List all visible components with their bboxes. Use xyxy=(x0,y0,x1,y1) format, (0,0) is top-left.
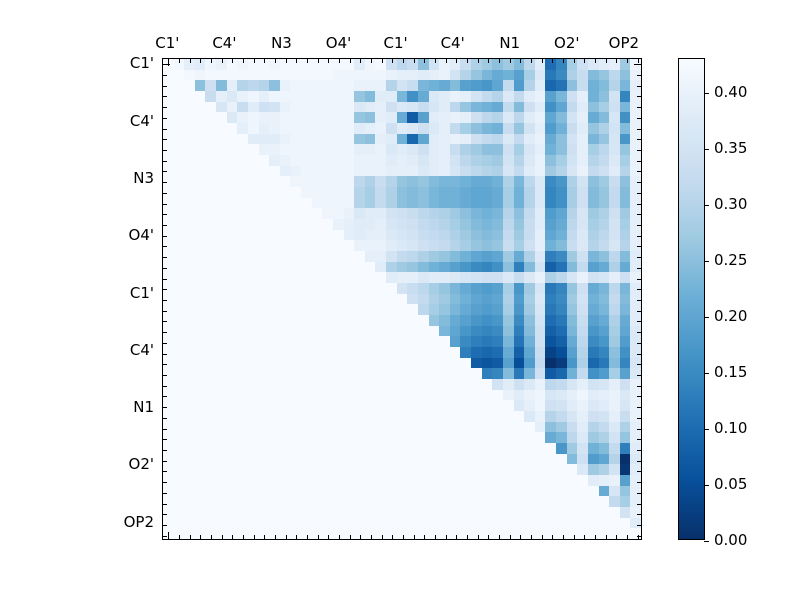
heatmap-cell xyxy=(301,518,312,529)
heatmap-cell xyxy=(599,432,610,443)
heatmap-cell xyxy=(588,294,599,305)
heatmap-cell xyxy=(386,272,397,283)
heatmap-cell xyxy=(333,166,344,177)
heatmap-cell xyxy=(227,208,238,219)
heatmap-cell xyxy=(407,240,418,251)
axis-minor-tick xyxy=(222,59,223,63)
heatmap-cell xyxy=(312,454,323,465)
heatmap-cell xyxy=(301,80,312,91)
heatmap-cell xyxy=(354,166,365,177)
axis-minor-tick xyxy=(179,535,180,539)
axis-minor-tick xyxy=(350,59,351,63)
heatmap-cell xyxy=(301,390,312,401)
heatmap-cell xyxy=(322,336,333,347)
heatmap-cell xyxy=(418,70,429,81)
heatmap-cell xyxy=(556,272,567,283)
heatmap-cell xyxy=(439,70,450,81)
axis-minor-tick xyxy=(467,59,468,63)
heatmap-cell xyxy=(269,134,280,145)
heatmap-cell xyxy=(216,432,227,443)
heatmap-cell xyxy=(545,208,556,219)
heatmap-cell xyxy=(503,240,514,251)
heatmap-cell xyxy=(322,272,333,283)
heatmap-cell xyxy=(301,358,312,369)
heatmap-cell xyxy=(503,390,514,401)
heatmap-cell xyxy=(269,166,280,177)
heatmap-cell xyxy=(195,155,206,166)
heatmap-cell xyxy=(248,166,259,177)
colorbar-tick-label: 0.40 xyxy=(714,83,747,101)
heatmap-cell xyxy=(248,400,259,411)
heatmap-cell xyxy=(503,304,514,315)
heatmap-cell xyxy=(205,326,216,337)
axis-minor-tick xyxy=(637,504,641,505)
heatmap-cell xyxy=(184,240,195,251)
heatmap-cell xyxy=(397,134,408,145)
heatmap-cell xyxy=(248,379,259,390)
heatmap-cell xyxy=(407,123,418,134)
heatmap-cell xyxy=(630,368,641,379)
heatmap-cell xyxy=(556,464,567,475)
heatmap-cell xyxy=(609,358,620,369)
heatmap-cell xyxy=(397,464,408,475)
heatmap-cell xyxy=(280,198,291,209)
axis-minor-tick xyxy=(446,535,447,539)
axis-minor-tick xyxy=(584,535,585,539)
heatmap-cell xyxy=(375,240,386,251)
colorbar-tick xyxy=(704,205,709,206)
heatmap-cell xyxy=(174,496,185,507)
heatmap-cell xyxy=(599,411,610,422)
heatmap-cell xyxy=(609,486,620,497)
axis-minor-tick xyxy=(163,246,167,247)
heatmap-cell xyxy=(301,464,312,475)
heatmap-cell xyxy=(237,166,248,177)
heatmap-cell xyxy=(588,134,599,145)
heatmap-cell xyxy=(620,80,631,91)
heatmap-cell xyxy=(216,294,227,305)
heatmap-cell xyxy=(344,102,355,113)
heatmap-cell xyxy=(386,123,397,134)
heatmap-cell xyxy=(365,326,376,337)
heatmap-cell xyxy=(365,102,376,113)
heatmap-cell xyxy=(460,80,471,91)
heatmap-cell xyxy=(397,454,408,465)
heatmap-cell xyxy=(216,144,227,155)
heatmap-cell xyxy=(439,262,450,273)
heatmap-cell xyxy=(237,219,248,230)
heatmap-cell xyxy=(290,432,301,443)
axis-minor-tick xyxy=(563,59,564,63)
heatmap-cell xyxy=(482,400,493,411)
heatmap-cell xyxy=(535,400,546,411)
heatmap-cell xyxy=(450,272,461,283)
heatmap-cell xyxy=(471,283,482,294)
heatmap-cell xyxy=(375,294,386,305)
heatmap-cell xyxy=(524,80,535,91)
heatmap-cell xyxy=(290,155,301,166)
heatmap-cell xyxy=(322,230,333,241)
heatmap-cell xyxy=(354,80,365,91)
heatmap-cell xyxy=(620,315,631,326)
heatmap-cell xyxy=(418,198,429,209)
axis-minor-tick xyxy=(552,59,553,63)
axis-minor-tick xyxy=(163,493,167,494)
heatmap-cell xyxy=(418,304,429,315)
heatmap-cell xyxy=(524,315,535,326)
heatmap-cell xyxy=(248,347,259,358)
heatmap-cell xyxy=(482,70,493,81)
heatmap-cell xyxy=(471,80,482,91)
axis-minor-tick xyxy=(638,59,639,63)
heatmap-cell xyxy=(482,326,493,337)
heatmap-cell xyxy=(567,283,578,294)
heatmap-cell xyxy=(450,486,461,497)
axis-minor-tick xyxy=(163,418,167,419)
heatmap-cell xyxy=(514,347,525,358)
heatmap-cell xyxy=(280,315,291,326)
heatmap-cell xyxy=(609,102,620,113)
heatmap-cell xyxy=(237,422,248,433)
heatmap-cell xyxy=(174,283,185,294)
heatmap-cell xyxy=(429,176,440,187)
heatmap-cell xyxy=(301,176,312,187)
heatmap-cell xyxy=(269,390,280,401)
heatmap-cell xyxy=(280,80,291,91)
heatmap-cell xyxy=(184,262,195,273)
heatmap-cell xyxy=(333,294,344,305)
heatmap-cell xyxy=(280,368,291,379)
heatmap-cell xyxy=(259,358,270,369)
heatmap-cell xyxy=(545,411,556,422)
heatmap-cell xyxy=(418,390,429,401)
heatmap-cell xyxy=(280,400,291,411)
heatmap-cell xyxy=(184,80,195,91)
heatmap-cell xyxy=(620,91,631,102)
heatmap-cell xyxy=(344,166,355,177)
axis-minor-tick xyxy=(286,535,287,539)
heatmap-cell xyxy=(259,198,270,209)
heatmap-cell xyxy=(535,251,546,262)
heatmap-cell xyxy=(588,400,599,411)
axis-minor-tick xyxy=(637,493,641,494)
heatmap-cell xyxy=(354,379,365,390)
heatmap-cell xyxy=(195,208,206,219)
heatmap-cell xyxy=(503,422,514,433)
heatmap-cell xyxy=(620,528,631,539)
heatmap-cell xyxy=(418,379,429,390)
heatmap-cell xyxy=(429,155,440,166)
heatmap-cell xyxy=(503,112,514,123)
heatmap-cell xyxy=(301,432,312,443)
heatmap-cell xyxy=(407,91,418,102)
heatmap-cell xyxy=(567,102,578,113)
heatmap-cell xyxy=(524,507,535,518)
heatmap-cell xyxy=(567,70,578,81)
axis-minor-tick xyxy=(243,59,244,63)
axis-minor-tick xyxy=(637,343,641,344)
heatmap-cell xyxy=(439,251,450,262)
heatmap-cell xyxy=(407,294,418,305)
heatmap-cell xyxy=(599,144,610,155)
heatmap-cell xyxy=(259,347,270,358)
heatmap-cell xyxy=(567,176,578,187)
heatmap-cell xyxy=(535,454,546,465)
heatmap-cell xyxy=(344,240,355,251)
heatmap-cell xyxy=(460,283,471,294)
heatmap-cell xyxy=(227,358,238,369)
heatmap-cell xyxy=(333,187,344,198)
heatmap-cell xyxy=(609,432,620,443)
heatmap-cell xyxy=(195,134,206,145)
axis-minor-tick xyxy=(232,59,233,63)
heatmap-cell xyxy=(301,304,312,315)
heatmap-cell xyxy=(407,155,418,166)
heatmap-cell xyxy=(344,304,355,315)
heatmap-cell xyxy=(259,304,270,315)
heatmap-cell xyxy=(429,411,440,422)
heatmap-cell xyxy=(418,166,429,177)
heatmap-cell xyxy=(503,70,514,81)
heatmap-cell xyxy=(471,230,482,241)
heatmap-cell xyxy=(312,166,323,177)
axis-minor-tick xyxy=(264,535,265,539)
heatmap-cell xyxy=(482,496,493,507)
heatmap-cell xyxy=(397,432,408,443)
heatmap-cell xyxy=(514,507,525,518)
heatmap-cell xyxy=(524,102,535,113)
heatmap-cell xyxy=(535,112,546,123)
heatmap-cell xyxy=(354,400,365,411)
heatmap-cell xyxy=(567,208,578,219)
axis-minor-tick xyxy=(163,161,167,162)
heatmap-cell xyxy=(599,112,610,123)
heatmap-cell xyxy=(460,336,471,347)
heatmap-cell xyxy=(259,155,270,166)
heatmap-cell xyxy=(163,368,174,379)
heatmap-cell xyxy=(365,486,376,497)
heatmap-cell xyxy=(471,219,482,230)
heatmap-cell xyxy=(588,80,599,91)
heatmap-cell xyxy=(205,272,216,283)
heatmap-cell xyxy=(237,315,248,326)
heatmap-cell xyxy=(609,315,620,326)
heatmap-cell xyxy=(301,336,312,347)
heatmap-cell xyxy=(556,358,567,369)
heatmap-cell xyxy=(407,166,418,177)
heatmap-cell xyxy=(375,187,386,198)
heatmap-cell xyxy=(577,368,588,379)
heatmap-cell xyxy=(174,475,185,486)
heatmap-cell xyxy=(482,176,493,187)
heatmap-cell xyxy=(397,80,408,91)
heatmap-cell xyxy=(630,390,641,401)
axis-minor-tick xyxy=(574,59,575,63)
heatmap-cell xyxy=(290,208,301,219)
heatmap-cell xyxy=(375,326,386,337)
heatmap-cell xyxy=(354,304,365,315)
heatmap-cell xyxy=(227,315,238,326)
heatmap-cell xyxy=(471,432,482,443)
heatmap-cell xyxy=(492,315,503,326)
heatmap-cell xyxy=(588,464,599,475)
heatmap-cell xyxy=(535,518,546,529)
heatmap-cell xyxy=(163,443,174,454)
heatmap-cell xyxy=(205,315,216,326)
heatmap-cell xyxy=(429,294,440,305)
heatmap-cell xyxy=(535,315,546,326)
heatmap-cell xyxy=(599,390,610,401)
heatmap-cell xyxy=(216,507,227,518)
heatmap-cell xyxy=(460,230,471,241)
heatmap-cell xyxy=(301,91,312,102)
heatmap-cell xyxy=(630,411,641,422)
heatmap-cell xyxy=(205,454,216,465)
heatmap-cell xyxy=(577,336,588,347)
colorbar-tick-label: 0.00 xyxy=(714,531,747,549)
heatmap-cell xyxy=(418,475,429,486)
heatmap-cell xyxy=(439,304,450,315)
heatmap-cell xyxy=(588,432,599,443)
heatmap-cell xyxy=(439,464,450,475)
heatmap-cell xyxy=(397,155,408,166)
heatmap-cell xyxy=(216,315,227,326)
heatmap-cell xyxy=(375,230,386,241)
heatmap-cell xyxy=(482,144,493,155)
heatmap-cell xyxy=(322,390,333,401)
heatmap-cell xyxy=(397,91,408,102)
heatmap-cell xyxy=(227,198,238,209)
heatmap-cell xyxy=(386,262,397,273)
axis-minor-tick xyxy=(637,471,641,472)
heatmap-cell xyxy=(205,208,216,219)
heatmap-cell xyxy=(259,283,270,294)
heatmap-cell xyxy=(450,230,461,241)
heatmap-cell xyxy=(205,475,216,486)
heatmap-cell xyxy=(205,251,216,262)
heatmap-cell xyxy=(620,294,631,305)
heatmap-cell xyxy=(354,283,365,294)
heatmap-cell xyxy=(269,443,280,454)
heatmap-cell xyxy=(386,91,397,102)
heatmap-cell xyxy=(290,358,301,369)
heatmap-cell xyxy=(609,496,620,507)
heatmap-cell xyxy=(609,198,620,209)
heatmap-cell xyxy=(418,507,429,518)
heatmap-cell xyxy=(492,390,503,401)
axis-minor-tick xyxy=(414,535,415,539)
heatmap-cell xyxy=(227,230,238,241)
heatmap-cell xyxy=(354,464,365,475)
heatmap-cell xyxy=(333,272,344,283)
heatmap-cell xyxy=(312,123,323,134)
heatmap-cell xyxy=(620,411,631,422)
heatmap-cell xyxy=(184,518,195,529)
heatmap-cell xyxy=(195,496,206,507)
heatmap-cell xyxy=(556,144,567,155)
heatmap-cell xyxy=(407,187,418,198)
heatmap-cell xyxy=(503,315,514,326)
heatmap-cell xyxy=(556,198,567,209)
heatmap-cell xyxy=(205,464,216,475)
heatmap-cell xyxy=(195,230,206,241)
axis-minor-tick xyxy=(637,182,641,183)
heatmap-cell xyxy=(322,134,333,145)
heatmap-cell xyxy=(301,198,312,209)
heatmap-cell xyxy=(609,240,620,251)
heatmap-cell xyxy=(322,422,333,433)
heatmap-cell xyxy=(418,336,429,347)
heatmap-cell xyxy=(280,272,291,283)
heatmap-cell xyxy=(333,496,344,507)
heatmap-cell xyxy=(429,166,440,177)
heatmap-cell xyxy=(450,464,461,475)
heatmap-cell xyxy=(407,102,418,113)
heatmap-cell xyxy=(354,368,365,379)
heatmap-cell xyxy=(248,198,259,209)
axis-minor-tick xyxy=(637,257,641,258)
heatmap-cell xyxy=(354,358,365,369)
heatmap-cell xyxy=(630,507,641,518)
heatmap-cell xyxy=(354,155,365,166)
heatmap-cell xyxy=(174,262,185,273)
axis-minor-tick xyxy=(163,343,167,344)
heatmap-cell xyxy=(535,294,546,305)
heatmap-cell xyxy=(503,336,514,347)
heatmap-cell xyxy=(184,422,195,433)
colorbar[interactable] xyxy=(678,58,705,540)
heatmap-cell xyxy=(471,422,482,433)
heatmap-cell xyxy=(205,70,216,81)
heatmap-cell xyxy=(545,347,556,358)
axis-minor-tick xyxy=(637,118,641,119)
heatmap-cell xyxy=(195,507,206,518)
heatmap-cell xyxy=(365,219,376,230)
heatmap-cell xyxy=(503,464,514,475)
heatmap-axes[interactable] xyxy=(162,58,642,540)
heatmap-cell xyxy=(174,123,185,134)
heatmap-cell xyxy=(163,518,174,529)
heatmap-cell xyxy=(524,390,535,401)
heatmap-cell xyxy=(620,123,631,134)
heatmap-cell xyxy=(269,496,280,507)
heatmap-cell xyxy=(588,454,599,465)
axis-minor-tick xyxy=(595,59,596,63)
heatmap-cell xyxy=(545,123,556,134)
heatmap-cell xyxy=(439,379,450,390)
heatmap-cell xyxy=(556,166,567,177)
heatmap-cell xyxy=(174,432,185,443)
heatmap-cell xyxy=(471,155,482,166)
x-tick-label: OP2 xyxy=(609,34,639,52)
axis-minor-tick xyxy=(392,535,393,539)
heatmap-cell xyxy=(344,294,355,305)
heatmap-cell xyxy=(269,315,280,326)
heatmap-cell xyxy=(471,379,482,390)
heatmap-cell xyxy=(163,336,174,347)
heatmap-cell xyxy=(407,112,418,123)
heatmap-cell xyxy=(577,315,588,326)
axis-minor-tick xyxy=(520,59,521,63)
heatmap-cell xyxy=(567,528,578,539)
heatmap-cell xyxy=(620,347,631,358)
heatmap-cell xyxy=(333,112,344,123)
heatmap-cell xyxy=(567,326,578,337)
heatmap-cell xyxy=(354,326,365,337)
heatmap-cell xyxy=(609,347,620,358)
heatmap-cell xyxy=(407,59,418,70)
heatmap-cell xyxy=(205,176,216,187)
